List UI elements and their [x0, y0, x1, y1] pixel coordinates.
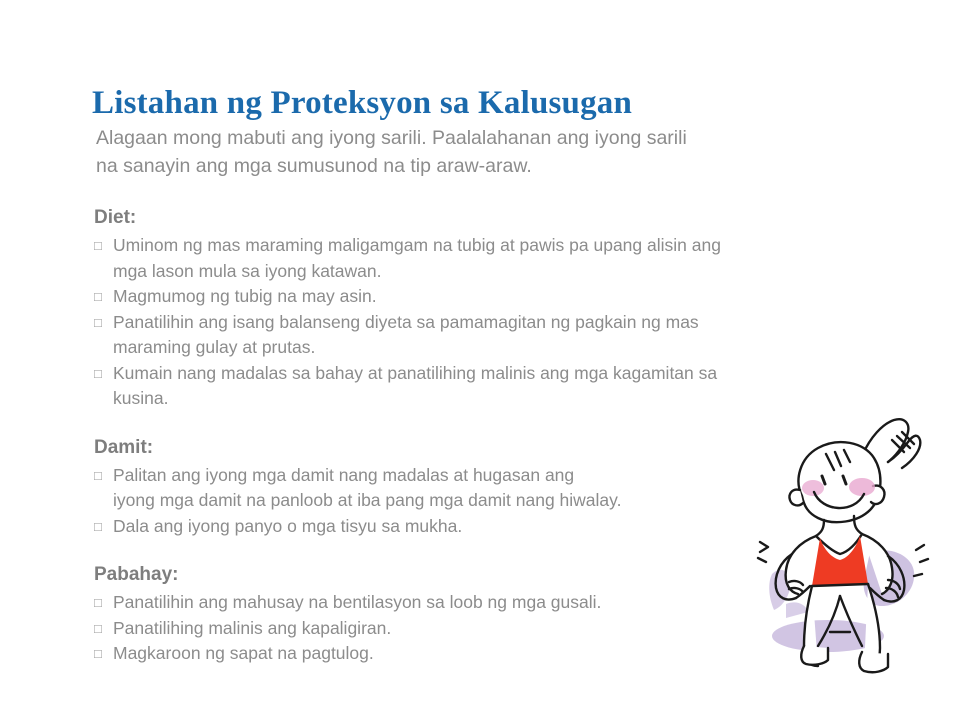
square-bullet-icon: □: [94, 616, 102, 642]
illustration-cartoon-child: [742, 414, 960, 682]
list-item: □ Magmumog ng tubig na may asin.: [94, 284, 864, 310]
square-bullet-icon: □: [94, 590, 102, 616]
square-bullet-icon: □: [94, 463, 102, 489]
list-item-line: Uminom ng mas maraming maligamgam na tub…: [113, 233, 864, 259]
list-item-line: Kumain nang madalas sa bahay at panatili…: [113, 361, 864, 387]
list-item-line: Panatilihin ang isang balanseng diyeta s…: [113, 310, 864, 336]
cartoon-child-icon: [742, 414, 960, 682]
page-title: Listahan ng Proteksyon sa Kalusugan: [92, 83, 632, 123]
list-item-line: Magmumog ng tubig na may asin.: [113, 284, 864, 310]
list-item-line: maraming gulay at prutas.: [113, 335, 864, 361]
intro-line-2: na sanayin ang mga sumusunod na tip araw…: [96, 152, 836, 180]
list-item-line: kusina.: [113, 386, 864, 412]
square-bullet-icon: □: [94, 361, 102, 387]
list-item-line: mga lason mula sa iyong katawan.: [113, 259, 864, 285]
square-bullet-icon: □: [94, 233, 102, 259]
intro-paragraph: Alagaan mong mabuti ang iyong sarili. Pa…: [96, 124, 836, 180]
list-item-text: Magmumog ng tubig na may asin.: [113, 284, 864, 310]
square-bullet-icon: □: [94, 641, 102, 667]
list-item: □ Kumain nang madalas sa bahay at panati…: [94, 361, 864, 412]
square-bullet-icon: □: [94, 514, 102, 540]
section-diet: Diet: □ Uminom ng mas maraming maligamga…: [94, 206, 864, 412]
list-item-text: Kumain nang madalas sa bahay at panatili…: [113, 361, 864, 412]
square-bullet-icon: □: [94, 310, 102, 336]
list-item: □ Panatilihin ang isang balanseng diyeta…: [94, 310, 864, 361]
list-item-text: Panatilihin ang isang balanseng diyeta s…: [113, 310, 864, 361]
slide-canvas: Listahan ng Proteksyon sa Kalusugan Alag…: [0, 0, 960, 720]
square-bullet-icon: □: [94, 284, 102, 310]
list-item: □ Uminom ng mas maraming maligamgam na t…: [94, 233, 864, 284]
list-item-text: Uminom ng mas maraming maligamgam na tub…: [113, 233, 864, 284]
section-heading-diet: Diet:: [94, 206, 864, 230]
intro-line-1: Alagaan mong mabuti ang iyong sarili. Pa…: [96, 124, 836, 152]
bullet-list-diet: □ Uminom ng mas maraming maligamgam na t…: [94, 233, 864, 412]
